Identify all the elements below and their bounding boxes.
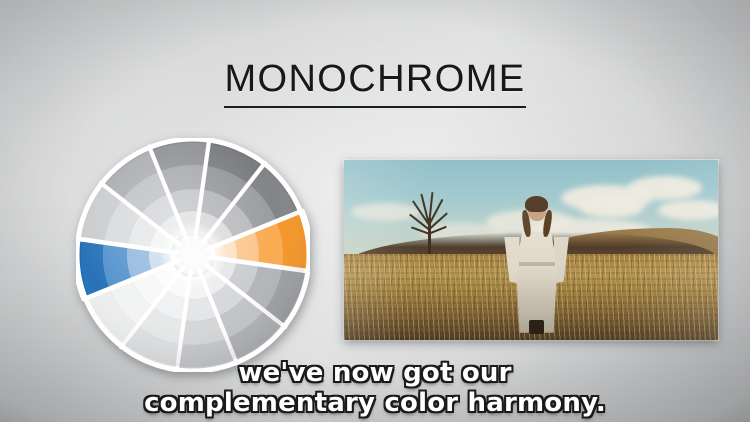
color-wheel — [76, 138, 310, 372]
caption-line-2: complementary color harmony. — [0, 388, 750, 418]
wheel-center-glow — [159, 221, 227, 289]
photo-sheen — [344, 160, 718, 340]
caption: we've now got our complementary color ha… — [0, 358, 750, 418]
page-title: MONOCHROME — [224, 58, 525, 108]
photo-image — [344, 160, 718, 340]
caption-line-1: we've now got our — [0, 358, 750, 388]
color-wheel-svg — [76, 138, 310, 372]
field-portrait-photo — [344, 160, 718, 340]
slide-canvas: MONOCHROME — [0, 0, 750, 422]
title-block: MONOCHROME — [0, 58, 750, 108]
